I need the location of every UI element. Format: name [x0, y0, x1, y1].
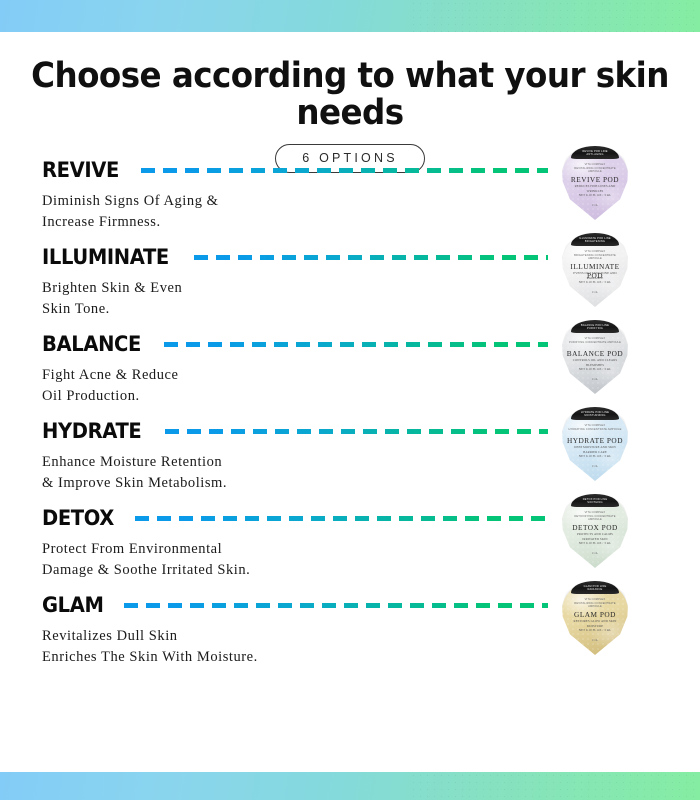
- pod-sub: PROTECTS AND CALMS IRRITATED SKIN NET 0.…: [570, 532, 620, 546]
- pod-slot: VITA COMPLEX DETOXIFYING CONCENTRATE AMP…: [560, 494, 640, 581]
- pod-slot: VITA COMPLEX REVITALIZING CONCENTRATE AM…: [560, 146, 640, 233]
- pod-slot: VITA COMPLEX PURIFYING CONCENTRATE AMPOU…: [560, 320, 640, 407]
- pod-sub: CONTROLS OIL AND CLEARS BLEMISHES NET 0.…: [570, 358, 620, 372]
- product-pod-image[interactable]: VITA COMPLEX HYDRATING CONCENTRATE AMPOU…: [562, 407, 628, 481]
- pod-volume: 3 mL: [562, 638, 628, 642]
- pod-top-line: VITA COMPLEX PURIFYING CONCENTRATE AMPOU…: [568, 337, 622, 344]
- pod-cap: DETOX POD LINE SOOTHING: [571, 494, 619, 507]
- pod-volume: 3 mL: [562, 290, 628, 294]
- pod-label: GLAM POD: [562, 610, 628, 619]
- pod-slot: VITA COMPLEX BRIGHTENING CONCENTRATE AMP…: [560, 233, 640, 320]
- pod-cap-text: HYDRATE POD LINE MOISTURIZING: [571, 411, 619, 417]
- product-pod-image[interactable]: VITA COMPLEX BRIGHTENING CONCENTRATE AMP…: [562, 233, 628, 307]
- product-pod-image[interactable]: VITA COMPLEX REVITALIZING CONCENTRATE AM…: [562, 146, 628, 220]
- option-title: DETOX: [42, 506, 114, 530]
- pod-cap-text: ILLUMINATE POD LINE BRIGHTENING: [571, 237, 619, 243]
- option-title: ILLUMINATE: [42, 245, 169, 269]
- pod-top-line: VITA COMPLEX REVITALIZING CONCENTRATE AM…: [568, 163, 622, 174]
- pod-volume: 3 mL: [562, 464, 628, 468]
- pod-label: HYDRATE POD: [562, 436, 628, 445]
- pod-sub: RESTORES GLOW AND SKIN MOISTURE NET 0.10…: [570, 619, 620, 633]
- pod-cap: BALANCE POD LINE PURIFYING: [571, 320, 619, 333]
- pod-top-line: VITA COMPLEX REVITALIZING CONCENTRATE AM…: [568, 598, 622, 609]
- pod-cap-text: DETOX POD LINE SOOTHING: [571, 498, 619, 504]
- option-title: HYDRATE: [42, 419, 141, 443]
- divider-dashed-line: [141, 168, 548, 173]
- pod-cap-text: BALANCE POD LINE PURIFYING: [571, 324, 619, 330]
- pod-top-line: VITA COMPLEX BRIGHTENING CONCENTRATE AMP…: [568, 250, 622, 261]
- pod-cap: ILLUMINATE POD LINE BRIGHTENING: [571, 233, 619, 246]
- option-title: REVIVE: [42, 158, 119, 182]
- pod-slot: VITA COMPLEX REVITALIZING CONCENTRATE AM…: [560, 581, 640, 668]
- pod-top-line: VITA COMPLEX HYDRATING CONCENTRATE AMPOU…: [568, 424, 622, 431]
- pod-cap-text: REVIVE POD LINE ANTI-AGING: [571, 150, 619, 156]
- bottom-gradient-band: [0, 772, 700, 800]
- pod-volume: 3 mL: [562, 377, 628, 381]
- pod-slot: VITA COMPLEX HYDRATING CONCENTRATE AMPOU…: [560, 407, 640, 494]
- pod-sub: REDUCES FINE LINES AND WRINKLES NET 0.10…: [570, 184, 620, 198]
- product-pod-column: VITA COMPLEX REVITALIZING CONCENTRATE AM…: [560, 146, 640, 668]
- pod-top-line: VITA COMPLEX DETOXIFYING CONCENTRATE AMP…: [568, 511, 622, 522]
- divider-dashed-line: [124, 603, 548, 608]
- band-dot-texture: [410, 772, 700, 800]
- divider-dashed-line: [194, 255, 548, 260]
- divider-dashed-line: [165, 429, 548, 434]
- divider-dashed-line: [135, 516, 548, 521]
- band-dot-texture: [410, 0, 700, 32]
- pod-volume: 3 mL: [562, 551, 628, 555]
- pod-sub: EVENS OUT SKIN TONE AND RADIANCE NET 0.1…: [570, 271, 620, 285]
- product-pod-image[interactable]: VITA COMPLEX REVITALIZING CONCENTRATE AM…: [562, 581, 628, 655]
- pod-sub: DEEP MOISTURE AND SKIN BARRIER CARE NET …: [570, 445, 620, 459]
- pod-label: REVIVE POD: [562, 175, 628, 184]
- page-title: Choose according to what your skin needs: [25, 58, 676, 132]
- poster-root: Choose according to what your skin needs…: [0, 0, 700, 800]
- pod-label: BALANCE POD: [562, 349, 628, 358]
- product-pod-image[interactable]: VITA COMPLEX PURIFYING CONCENTRATE AMPOU…: [562, 320, 628, 394]
- pod-cap-text: GLAM POD LINE RADIANCE: [571, 585, 619, 591]
- product-pod-image[interactable]: VITA COMPLEX DETOXIFYING CONCENTRATE AMP…: [562, 494, 628, 568]
- top-gradient-band: [0, 0, 700, 32]
- divider-dashed-line: [164, 342, 548, 347]
- option-title: GLAM: [42, 593, 104, 617]
- pod-cap: GLAM POD LINE RADIANCE: [571, 581, 619, 594]
- pod-cap: HYDRATE POD LINE MOISTURIZING: [571, 407, 619, 420]
- option-title: BALANCE: [42, 332, 141, 356]
- pod-volume: 3 mL: [562, 203, 628, 207]
- pod-cap: REVIVE POD LINE ANTI-AGING: [571, 146, 619, 159]
- pod-label: DETOX POD: [562, 523, 628, 532]
